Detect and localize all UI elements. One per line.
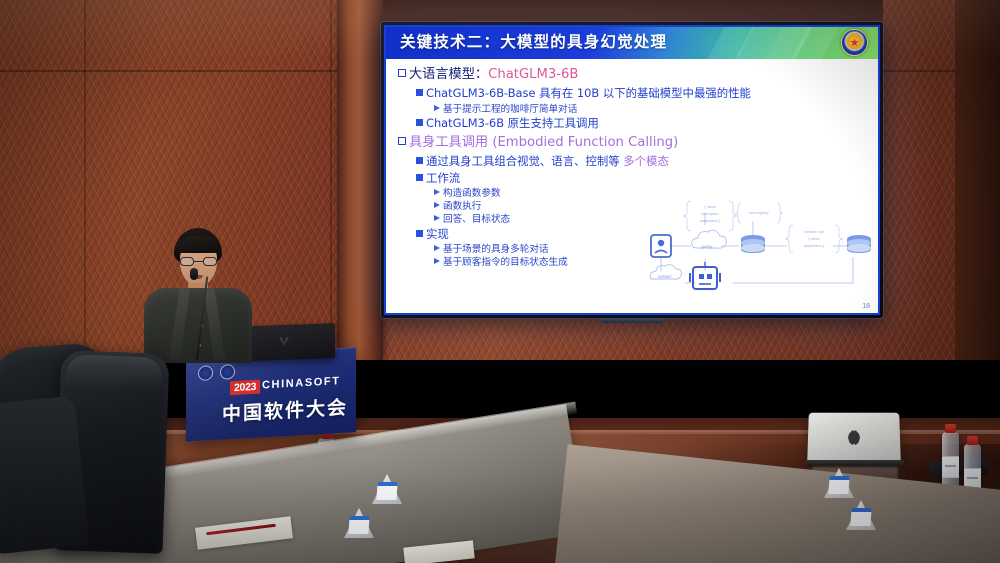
slide-bullet-line: 具身工具调用 (Embodied Function Calling)	[394, 134, 870, 151]
wood-wall-far-right	[955, 0, 1000, 360]
slide-text-run: 构造函数参数	[443, 188, 501, 199]
slide-text-run: 基于提示工程的咖啡厅简单对话	[443, 104, 577, 115]
svg-text:tool registry: tool registry	[749, 211, 769, 215]
microphone-head	[190, 268, 198, 280]
slide-text-run: 工作流	[426, 171, 460, 185]
slide-text-run: ChatGLM3-6B 原生支持工具调用	[426, 116, 599, 130]
arrow-bullet-icon	[434, 189, 440, 195]
display-stand	[600, 318, 664, 323]
institution-emblem-icon	[841, 29, 868, 56]
slide-bullet-line: ChatGLM3-6B 原生支持工具调用	[394, 116, 870, 131]
slide-bullet-line: ChatGLM3-6B-Base 具有在 10B 以下的基础模型中最强的性能	[394, 86, 870, 101]
arrow-bullet-icon	[434, 245, 440, 251]
slide-bullet-text: 通过具身工具组合视觉、语言、控制等 多个模态	[426, 154, 669, 169]
display-panel: 关键技术二：大模型的具身幻觉处理 大语言模型：ChatGLM3-6BChatGL…	[384, 25, 880, 315]
database-icon-2	[847, 235, 871, 253]
slide-bullet-text: 构造函数参数	[443, 188, 501, 200]
svg-text:answer: answer	[658, 274, 672, 279]
wall-seam-vertical-left	[84, 0, 86, 360]
bottle-cap	[967, 436, 978, 445]
slide-text-run: ChatGLM3-6B-Base 具有在 10B 以下的基础模型中最强的性能	[426, 86, 751, 100]
svg-text:parameters }: parameters }	[700, 219, 721, 223]
macbook-base	[806, 460, 904, 466]
svg-text:{ name: { name	[704, 205, 715, 209]
solid-square-bullet-icon	[416, 230, 423, 237]
nameplate-card	[348, 516, 369, 534]
water-bottle	[942, 432, 959, 490]
robot-icon	[690, 262, 720, 289]
chair-highlight	[65, 354, 162, 391]
podium-year-badge: 2023	[230, 380, 260, 396]
slide-bullet-text: 基于提示工程的咖啡厅简单对话	[443, 104, 577, 116]
solid-square-bullet-icon	[416, 157, 423, 164]
slide-text-run: 具身工具调用 (Embodied Function Calling)	[409, 135, 678, 150]
slide-bullet-text: 函数执行	[443, 201, 481, 213]
database-icon-1	[741, 235, 765, 253]
glasses-bridge	[194, 261, 203, 262]
solid-square-bullet-icon	[416, 174, 423, 181]
slide-text-run: ChatGLM3-6B	[488, 67, 578, 82]
slide-text-run: 大语言模型：	[409, 67, 488, 82]
slide-text-run: 回答、目标状态	[443, 214, 510, 225]
glasses-lens-left	[180, 257, 194, 266]
arrow-bullet-icon	[434, 258, 440, 264]
slide-bullet-text: 实现	[426, 227, 449, 242]
nameplate-holder	[344, 508, 374, 540]
slide-bullet-text: 具身工具调用 (Embodied Function Calling)	[409, 134, 678, 151]
hollow-square-bullet-icon	[398, 137, 406, 145]
arrow-bullet-icon	[434, 105, 440, 111]
slide-title: 关键技术二：大模型的具身幻觉处理	[400, 30, 667, 52]
slide-page-number: 18	[862, 303, 870, 310]
slide-bullet-text: ChatGLM3-6B 原生支持工具调用	[426, 116, 599, 131]
slide-bullet-line: 大语言模型：ChatGLM3-6B	[394, 66, 870, 83]
slide-bullet-text: 基于场景的具身多轮对话	[443, 244, 549, 256]
nameplate-holder	[372, 474, 402, 506]
slide-text-run: 多个模态	[623, 154, 669, 168]
slide-text-run: 实现	[426, 227, 449, 241]
glasses-lens-right	[203, 257, 217, 266]
solid-square-bullet-icon	[416, 119, 423, 126]
slide-bullet-text: 大语言模型：ChatGLM3-6B	[409, 66, 578, 83]
nameplate-holder	[824, 468, 854, 500]
slide: 关键技术二：大模型的具身幻觉处理 大语言模型：ChatGLM3-6BChatGL…	[386, 27, 878, 313]
slide-bullet-text: ChatGLM3-6B-Base 具有在 10B 以下的基础模型中最强的性能	[426, 86, 751, 101]
arrow-bullet-icon	[434, 202, 440, 208]
svg-text:query: query	[702, 244, 714, 249]
nameplate-card	[828, 476, 849, 494]
slide-text-run: 通过具身工具组合视觉、语言、控制等	[426, 154, 623, 168]
svg-text:description: description	[701, 212, 718, 216]
slide-bullet-line: 基于提示工程的咖啡厅简单对话	[394, 104, 870, 116]
solid-square-bullet-icon	[416, 89, 423, 96]
svg-text:function call: function call	[805, 230, 824, 234]
hollow-square-bullet-icon	[398, 69, 406, 77]
nameplate-card	[850, 508, 871, 526]
wall-top-strip	[383, 0, 883, 22]
slide-text-run: 基于顾客指令的目标状态生成	[443, 257, 568, 268]
slide-bullet-line: 工作流	[394, 171, 870, 186]
macbook-laptop	[807, 413, 901, 465]
slide-bullet-text: 工作流	[426, 171, 460, 186]
answer-cloud: answer	[650, 265, 681, 280]
wall-seam-vertical-mid	[330, 0, 332, 360]
tool-calling-flow-diagram: query answer	[647, 199, 872, 297]
svg-text:{ name: { name	[808, 237, 819, 241]
glasses-icon	[180, 257, 217, 266]
slide-bullet-line: 通过具身工具组合视觉、语言、控制等 多个模态	[394, 154, 870, 169]
svg-text:parameters }: parameters }	[804, 244, 825, 248]
slide-bullet-text: 基于顾客指令的目标状态生成	[443, 257, 568, 269]
presentation-display: 关键技术二：大模型的具身幻觉处理 大语言模型：ChatGLM3-6BChatGL…	[381, 22, 883, 318]
slide-body: 大语言模型：ChatGLM3-6BChatGLM3-6B-Base 具有在 10…	[386, 59, 878, 313]
slide-text-run: 基于场景的具身多轮对话	[443, 244, 549, 255]
conference-room-photo: 关键技术二：大模型的具身幻觉处理 大语言模型：ChatGLM3-6BChatGL…	[0, 0, 1000, 563]
slide-text-run: 函数执行	[443, 201, 481, 212]
nameplate-holder	[846, 500, 876, 532]
arrow-bullet-icon	[434, 215, 440, 221]
user-face-icon	[651, 235, 671, 257]
speaker-hair-fringe	[175, 236, 221, 253]
bottle-cap	[945, 424, 956, 433]
slide-bullet-text: 回答、目标状态	[443, 214, 510, 226]
coat-on-chair	[0, 395, 90, 554]
wall-pillar	[337, 0, 383, 360]
bottle-label	[942, 456, 959, 478]
slide-header-banner: 关键技术二：大模型的具身幻觉处理	[386, 27, 878, 59]
nameplate-card	[376, 482, 397, 500]
